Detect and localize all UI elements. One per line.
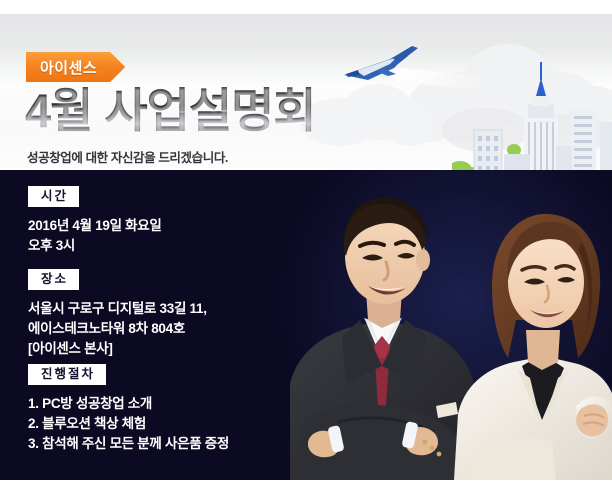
info-label-time: 시간	[28, 186, 79, 207]
airplane-icon	[338, 44, 422, 88]
info-block-time: 시간 2016년 4월 19일 화요일 오후 3시	[0, 186, 300, 256]
city-skyline-illustration	[452, 58, 612, 170]
brand-badge: 아이센스	[26, 52, 125, 82]
info-block-procedure: 진행절차 1. PC방 성공창업 소개 2. 블루오션 책상 체험 3. 참석해…	[0, 364, 300, 454]
info-label-procedure: 진행절차	[28, 364, 106, 385]
page-subtitle: 성공창업에 대한 자신감을 드리겠습니다.	[27, 147, 228, 166]
place-line-3: [아이센스 본사]	[28, 339, 300, 359]
info-label-place: 장소	[28, 269, 79, 290]
businesswoman-figure	[454, 214, 612, 480]
place-line-2: 에이스테크노타워 8차 804호	[28, 319, 300, 339]
place-line-1: 서울시 구로구 디지털로 33길 11,	[28, 299, 300, 319]
seminar-promo-banner: 아이센스 4월 사업설명회 성공창업에 대한 자신감을 드리겠습니다.	[0, 0, 612, 496]
procedure-line-2: 2. 블루오션 책상 체험	[28, 414, 300, 434]
two-business-people-photo	[286, 170, 612, 480]
time-line-1: 2016년 4월 19일 화요일	[28, 216, 300, 236]
procedure-line-1: 1. PC방 성공창업 소개	[28, 394, 300, 414]
brand-badge-label: 아이센스	[26, 52, 125, 82]
page-title: 4월 사업설명회	[25, 82, 316, 140]
info-block-place: 장소 서울시 구로구 디지털로 33길 11, 에이스테크노타워 8차 804호…	[0, 269, 300, 359]
bottom-margin	[0, 480, 612, 496]
info-lines-place: 서울시 구로구 디지털로 33길 11, 에이스테크노타워 8차 804호 [아…	[28, 299, 300, 359]
details-panel: 시간 2016년 4월 19일 화요일 오후 3시 장소 서울시 구로구 디지털…	[0, 170, 612, 480]
info-lines-time: 2016년 4월 19일 화요일 오후 3시	[28, 216, 300, 256]
banner-header: 아이센스 4월 사업설명회 성공창업에 대한 자신감을 드리겠습니다.	[0, 14, 612, 170]
info-lines-procedure: 1. PC방 성공창업 소개 2. 블루오션 책상 체험 3. 참석해 주신 모…	[28, 394, 300, 454]
time-line-2: 오후 3시	[28, 236, 300, 256]
procedure-line-3: 3. 참석해 주신 모든 분께 사은품 증정	[28, 434, 300, 454]
businessman-figure	[290, 198, 476, 480]
